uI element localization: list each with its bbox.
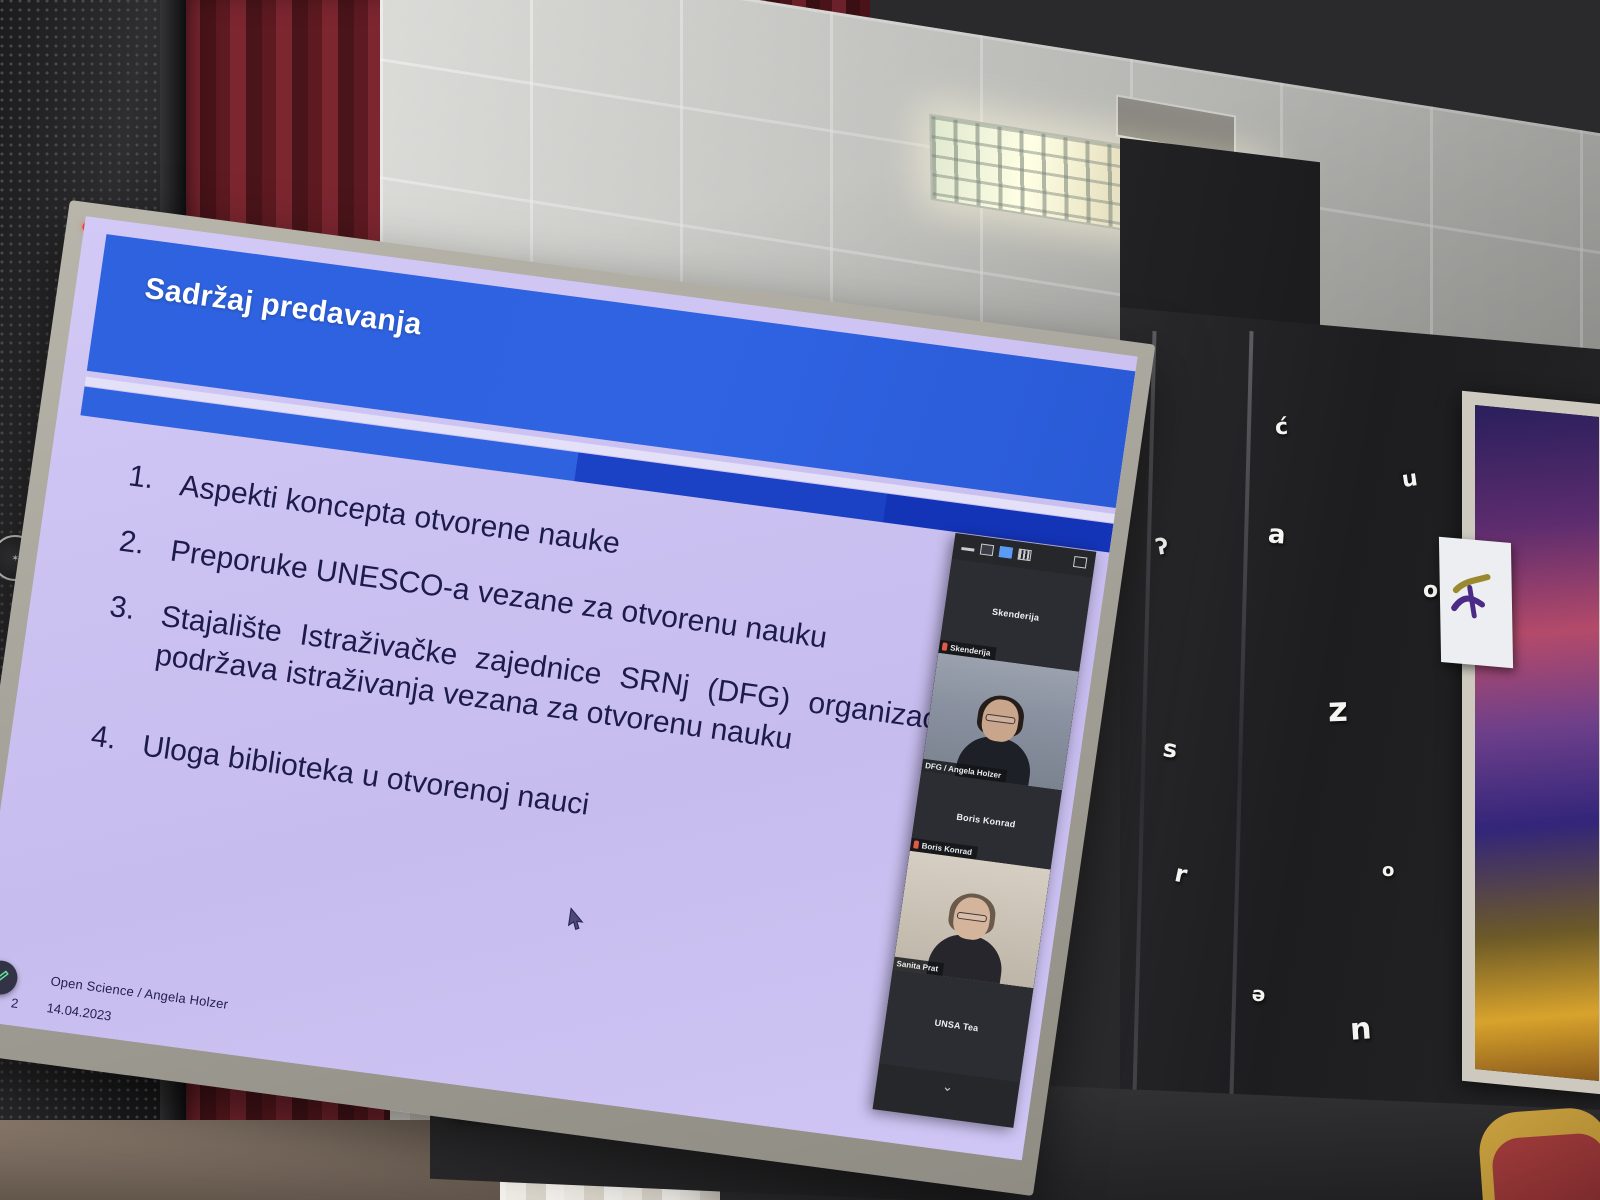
participant-display-name: Boris Konrad [915, 806, 1057, 835]
wall-letter: a [1267, 519, 1287, 550]
list-item-text: Uloga biblioteka u otvorenoj nauci [140, 726, 592, 825]
slide-footer-date: 14.04.2023 [46, 1000, 113, 1023]
minimize-icon[interactable] [961, 547, 974, 552]
participant-display-name: UNSA Tea [885, 1012, 1027, 1041]
list-item-number: 1. [125, 460, 182, 506]
wall-mounted-tv: Sadržaj predavanja 1. Aspekti koncepta o… [0, 200, 1155, 1196]
wall-letter: o [1382, 860, 1394, 881]
slide-number: 2 [10, 996, 19, 1012]
glasses-icon [957, 912, 988, 923]
wall-letter: n [1349, 1011, 1373, 1047]
microphone-icon [942, 643, 948, 652]
annotation-pen-button[interactable] [0, 958, 20, 996]
sidebar-view-icon[interactable] [999, 546, 1013, 559]
list-item-number: 2. [116, 525, 173, 571]
expand-icon[interactable] [1073, 556, 1087, 569]
gold-chair [1477, 1106, 1600, 1200]
pen-icon [0, 968, 10, 987]
participant-tile[interactable]: UNSA Tea [879, 969, 1033, 1082]
floor [0, 1120, 500, 1200]
wall-letter: o [1423, 578, 1438, 603]
wall-letter: ć [1274, 415, 1289, 441]
wall-sign-logo-icon [1447, 567, 1496, 623]
participant-tile[interactable]: Sanita Prat [893, 851, 1051, 989]
framed-artwork [1462, 391, 1600, 1095]
microphone-icon [913, 841, 919, 850]
glasses-icon [985, 714, 1016, 725]
chevron-down-icon[interactable]: ⌄ [941, 1079, 954, 1093]
participant-tile[interactable]: DFG / Angela Holzer [921, 653, 1079, 791]
wall-letter: z [1327, 690, 1348, 731]
list-item-number: 4. [88, 720, 145, 766]
wall-letter: ə [1251, 981, 1267, 1006]
tv-screen: Sadržaj predavanja 1. Aspekti koncepta o… [0, 216, 1138, 1160]
grid-view-icon[interactable] [1017, 549, 1031, 562]
participant-display-name: Skenderija [944, 601, 1086, 630]
participant-tile[interactable]: Skenderija Skenderija [938, 559, 1092, 672]
wall-sign [1439, 537, 1513, 669]
single-view-icon[interactable] [980, 544, 994, 557]
artwork-canvas [1475, 405, 1599, 1081]
wall-letter: n [1400, 467, 1419, 494]
